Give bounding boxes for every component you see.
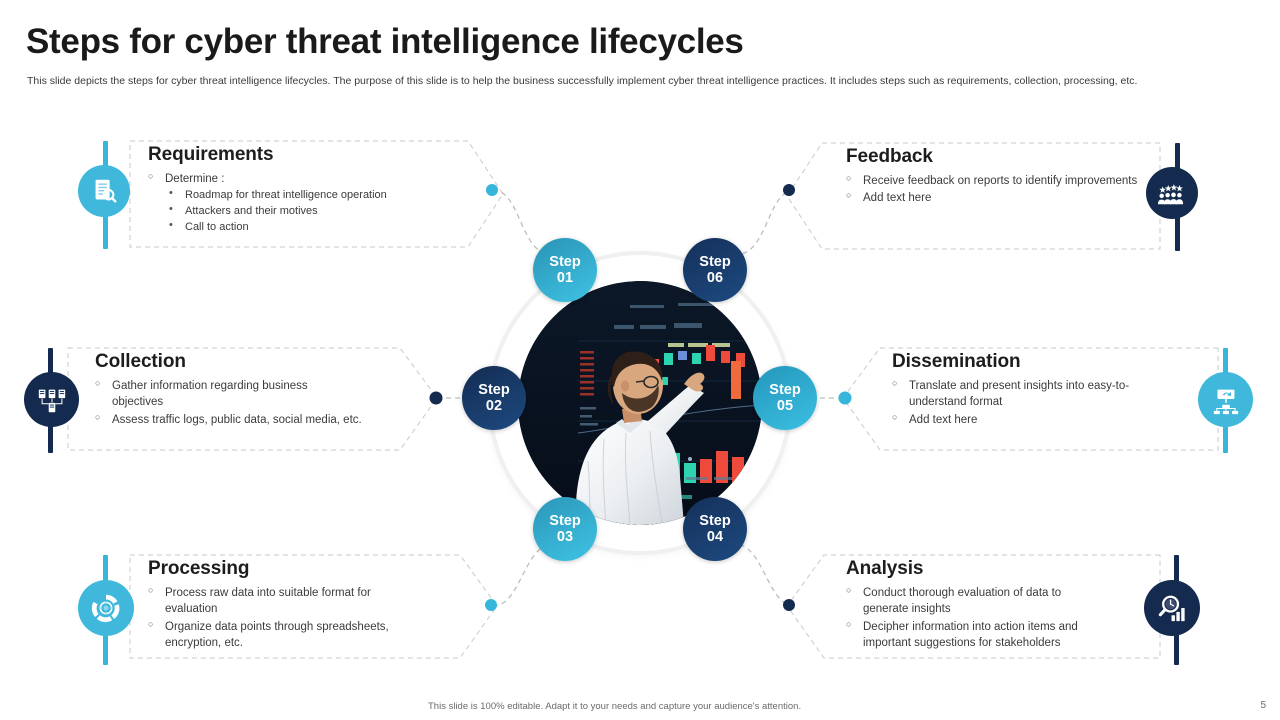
junction-dot-step06 <box>783 184 795 196</box>
requirements-bullets: Determine : Roadmap for threat intellige… <box>148 171 493 236</box>
bullet-text: Determine : <box>165 173 224 185</box>
dissemination-bullets: Translate and present insights into easy… <box>892 378 1207 428</box>
card-title-analysis: Analysis <box>846 558 1176 580</box>
list-item: Translate and present insights into easy… <box>892 378 1182 411</box>
link-step06 <box>740 190 795 254</box>
requirements-sublist: Roadmap for threat intelligence operatio… <box>165 188 493 236</box>
step-number: 06 <box>707 270 723 286</box>
step-badge-02[interactable]: Step 02 <box>462 366 526 430</box>
page-subtitle: This slide depicts the steps for cyber t… <box>27 74 1217 89</box>
list-item: Process raw data into suitable format fo… <box>148 585 400 618</box>
card-processing[interactable]: Processing Process raw data into suitabl… <box>100 552 500 667</box>
card-title-dissemination: Dissemination <box>892 351 1207 373</box>
list-item: Receive feedback on reports to identify … <box>846 173 1146 189</box>
list-item: Attackers and their motives <box>165 204 493 220</box>
footer-note: This slide is 100% editable. Adapt it to… <box>428 701 801 712</box>
list-item: Call to action <box>165 220 493 236</box>
step-number: 01 <box>557 270 573 286</box>
servers-network-icon <box>24 372 79 427</box>
junction-dot-step04 <box>783 599 795 611</box>
page-title: Steps for cyber threat intelligence life… <box>26 22 744 62</box>
feedback-bullets: Receive feedback on reports to identify … <box>846 173 1146 207</box>
card-dissemination[interactable]: Dissemination Translate and present insi… <box>860 345 1260 455</box>
list-item: Roadmap for threat intelligence operatio… <box>165 188 493 204</box>
list-item: Decipher information into action items a… <box>846 619 1121 652</box>
list-item: Determine : Roadmap for threat intellige… <box>148 171 493 236</box>
link-step04 <box>738 544 795 606</box>
link-step03 <box>493 544 550 606</box>
step-badge-03[interactable]: Step 03 <box>533 497 597 561</box>
collection-bullets: Gather information regarding business ob… <box>95 378 425 428</box>
step-label: Step <box>549 513 580 529</box>
card-requirements[interactable]: Requirements Determine : Roadmap for thr… <box>100 138 510 253</box>
list-item: Gather information regarding business ob… <box>95 378 310 411</box>
card-collection[interactable]: Collection Gather information regarding … <box>40 345 440 455</box>
step-badge-06[interactable]: Step 06 <box>683 238 747 302</box>
rating-people-icon <box>1146 167 1198 219</box>
processing-bullets: Process raw data into suitable format fo… <box>148 585 488 651</box>
step-badge-04[interactable]: Step 04 <box>683 497 747 561</box>
step-number: 04 <box>707 529 723 545</box>
document-search-icon <box>78 165 130 217</box>
center-photo <box>518 281 762 525</box>
card-analysis[interactable]: Analysis Conduct thorough evaluation of … <box>800 552 1200 667</box>
card-title-feedback: Feedback <box>846 146 1146 168</box>
step-number: 03 <box>557 529 573 545</box>
step-badge-05[interactable]: Step 05 <box>753 366 817 430</box>
list-item: Organize data points through spreadsheet… <box>148 619 438 652</box>
step-label: Step <box>769 382 800 398</box>
analysis-bullets: Conduct thorough evaluation of data to g… <box>846 585 1176 651</box>
step-number: 02 <box>486 398 502 414</box>
step-label: Step <box>699 513 730 529</box>
step-number: 05 <box>777 398 793 414</box>
refresh-cycle-icon <box>78 580 134 636</box>
step-label: Step <box>699 254 730 270</box>
page-number: 5 <box>1260 700 1266 711</box>
card-feedback[interactable]: Feedback Receive feedback on reports to … <box>800 140 1200 255</box>
step-label: Step <box>549 254 580 270</box>
step-label: Step <box>478 382 509 398</box>
list-item: Assess traffic logs, public data, social… <box>95 412 370 428</box>
card-title-collection: Collection <box>95 351 425 373</box>
card-title-requirements: Requirements <box>148 144 493 166</box>
list-item: Add text here <box>846 190 1146 206</box>
list-item: Add text here <box>892 412 1207 428</box>
list-item: Conduct thorough evaluation of data to g… <box>846 585 1108 618</box>
slide-canvas: Steps for cyber threat intelligence life… <box>0 0 1280 720</box>
card-title-processing: Processing <box>148 558 488 580</box>
step-badge-01[interactable]: Step 01 <box>533 238 597 302</box>
junction-dot-step05 <box>839 392 852 405</box>
